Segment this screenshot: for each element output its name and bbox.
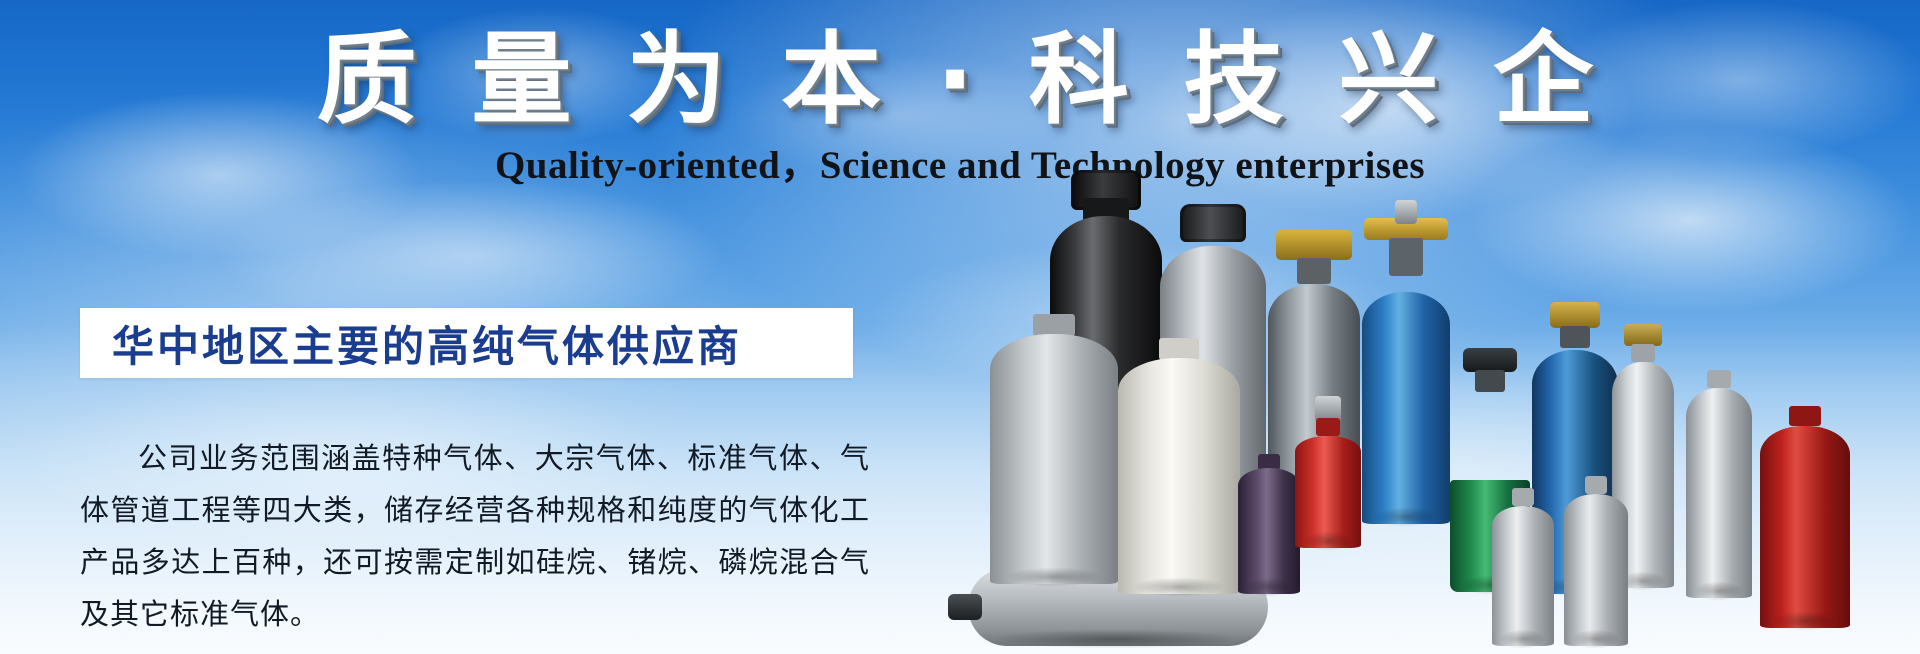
cylinder-body	[1686, 388, 1752, 598]
cylinder-shadow	[1492, 626, 1554, 652]
cylinder-grey-large	[990, 328, 1118, 584]
cylinder-body	[1564, 494, 1628, 646]
cylinder-valve-stem	[1395, 200, 1417, 224]
cylinder-shadow	[1564, 626, 1628, 652]
callout-box: 华中地区主要的高纯气体供应商	[80, 308, 853, 378]
cylinder-neck	[1585, 476, 1607, 494]
cylinder-shadow	[1686, 578, 1752, 604]
cylinder-neck	[1033, 314, 1075, 336]
cylinder-red-small	[1295, 430, 1361, 548]
cylinder-body	[1760, 426, 1850, 628]
cylinder-aluminium-4	[1686, 382, 1752, 598]
cylinder-neck	[1789, 406, 1821, 426]
cylinder-shadow	[1362, 504, 1450, 530]
promotional-banner: 质 量 为 本 · 科 技 兴 企 Quality-oriented，Scien…	[0, 0, 1920, 654]
cylinder-aluminium-2	[1492, 500, 1554, 646]
cylinder-body	[1362, 292, 1450, 524]
cylinder-blue-bright	[1362, 274, 1450, 524]
cylinder-shadow	[990, 564, 1118, 590]
cylinder-neck	[1475, 370, 1505, 392]
cylinder-valve	[1624, 324, 1662, 346]
cylinder-valve	[1550, 302, 1600, 328]
cylinder-neck	[1707, 370, 1731, 388]
cylinder-neck	[1389, 238, 1423, 276]
callout-text: 华中地区主要的高纯气体供应商	[80, 313, 742, 374]
cylinder-shadow	[1295, 528, 1361, 554]
banner-paragraph: 公司业务范围涵盖特种气体、大宗气体、标准气体、气体管道工程等四大类，储存经营各种…	[80, 432, 870, 640]
cylinder-shadow	[1760, 608, 1850, 634]
cylinder-shadow	[1118, 574, 1240, 600]
cylinder-shadow	[950, 626, 1280, 652]
cylinder-valve	[1276, 230, 1352, 260]
cylinder-valve	[1463, 348, 1517, 372]
cylinder-neck	[1560, 326, 1590, 348]
cylinder-neck	[1297, 258, 1331, 284]
cylinder-aluminium-3	[1564, 488, 1628, 646]
cylinder-body	[1492, 506, 1554, 646]
cylinder-body	[1118, 358, 1240, 594]
cylinder-neck	[1631, 344, 1655, 362]
cylinder-neck	[1159, 338, 1199, 360]
cylinder-valve	[948, 594, 982, 620]
cylinder-neck	[1512, 488, 1534, 506]
cylinder-shadow	[1238, 574, 1300, 600]
gas-cylinder-collage	[1140, 0, 1920, 654]
cylinder-purple-small	[1238, 464, 1300, 594]
cylinder-cap	[1180, 204, 1246, 242]
cylinder-neck	[1316, 418, 1340, 436]
cylinder-body	[990, 334, 1118, 584]
cylinder-white-large	[1118, 352, 1240, 594]
cylinder-red-large	[1760, 420, 1850, 628]
